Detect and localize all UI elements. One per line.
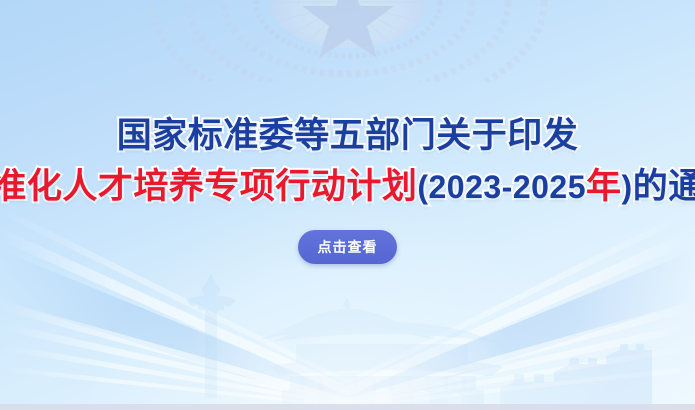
title-segment-close-paren: ) bbox=[622, 169, 633, 205]
page-title-line-2: 标准化人才培养专项行动计划(2023-2025年)的通知 bbox=[0, 169, 695, 204]
page-title-line-1: 国家标准委等五部门关于印发 bbox=[117, 118, 579, 153]
view-details-button[interactable]: 点击查看 bbox=[298, 230, 397, 264]
title-segment-notice: 的通知 bbox=[633, 167, 695, 206]
banner-content: 国家标准委等五部门关于印发 标准化人才培养专项行动计划(2023-2025年)的… bbox=[0, 0, 695, 410]
title-segment-year-char: 年 bbox=[586, 167, 622, 206]
announcement-banner: 国家标准委等五部门关于印发 标准化人才培养专项行动计划(2023-2025年)的… bbox=[0, 0, 695, 410]
title-segment-plan-name: 标准化人才培养专项行动计划 bbox=[0, 167, 417, 206]
title-segment-year-range: (2023-2025 bbox=[417, 169, 586, 205]
